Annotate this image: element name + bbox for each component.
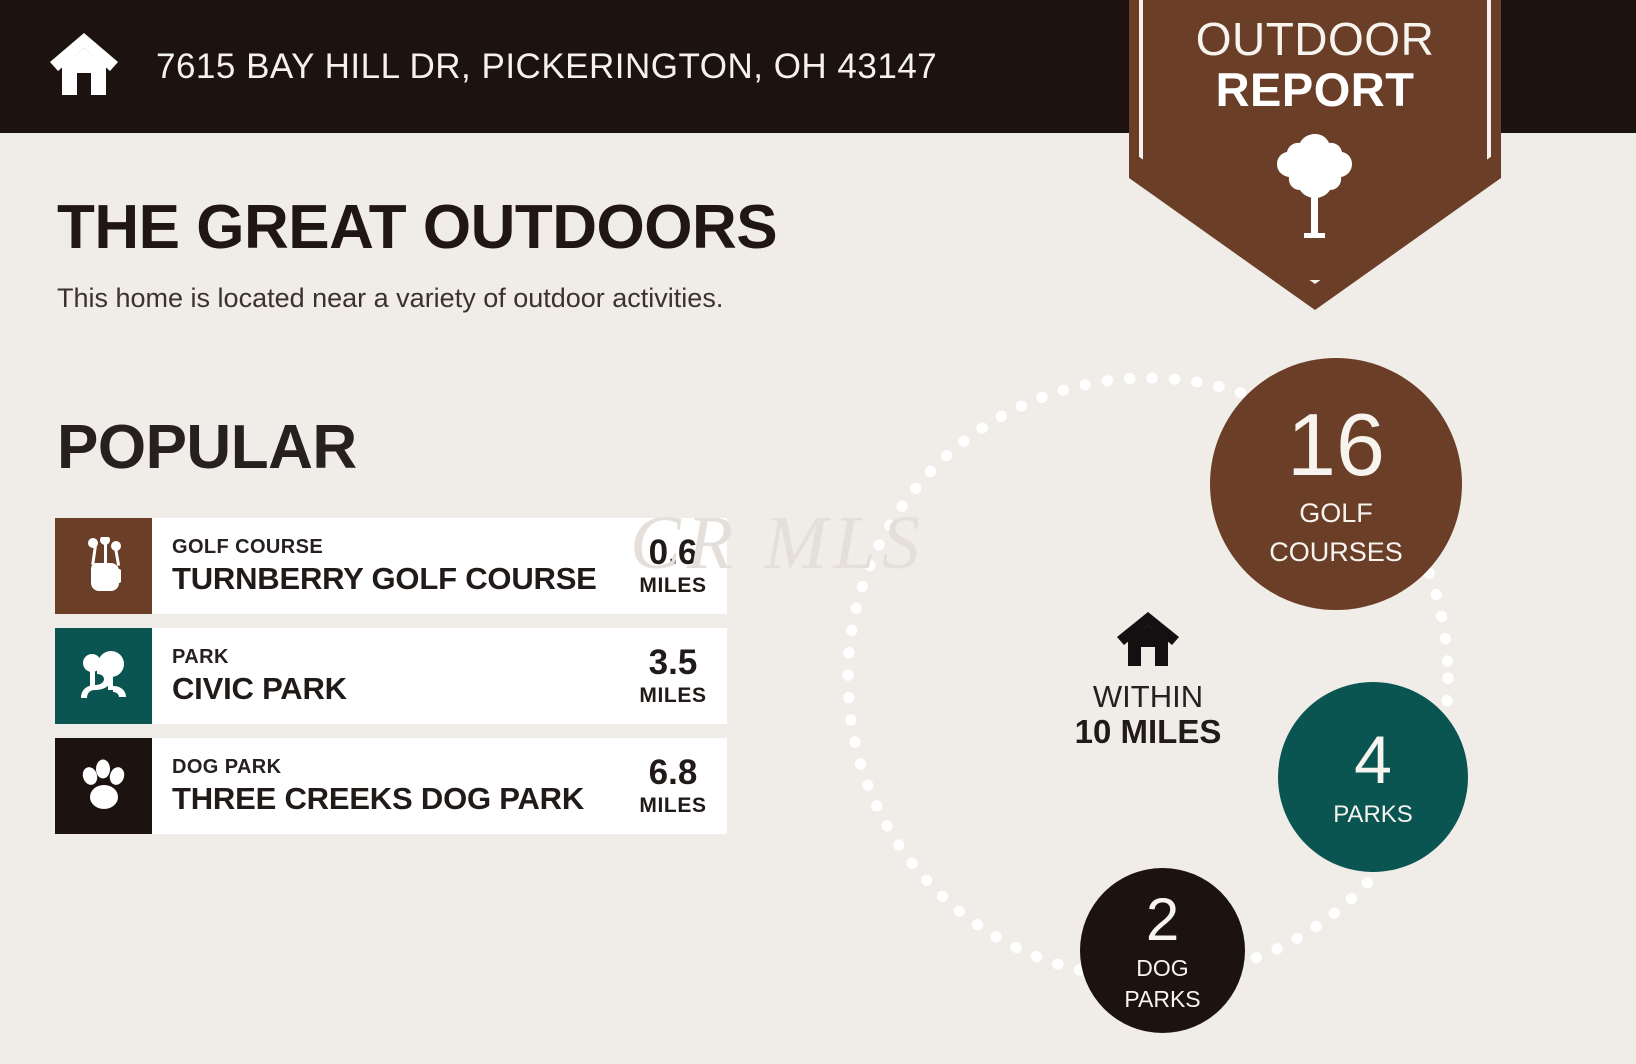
list-item[interactable]: GOLF COURSE TURNBERRY GOLF COURSE 0.6 MI… <box>55 518 727 614</box>
poi-text: PARK CIVIC PARK <box>172 646 347 707</box>
poi-distance: 0.6 MILES <box>633 535 721 598</box>
poi-distance-unit: MILES <box>639 574 706 598</box>
center-label-line1: WITHIN <box>1093 681 1203 714</box>
section-title-popular: POPULAR <box>57 412 357 483</box>
outdoor-report-badge: OUTDOOR REPORT <box>1129 0 1501 310</box>
tree-icon <box>1276 130 1354 245</box>
center-home-group: WITHIN 10 MILES <box>1068 610 1228 750</box>
badge-title-line2: REPORT <box>1129 62 1501 117</box>
poi-category: GOLF COURSE <box>172 536 597 559</box>
stat-label-line1: GOLF <box>1299 499 1373 528</box>
stat-label-line2: PARKS <box>1124 987 1200 1012</box>
park-tree-icon <box>78 648 130 705</box>
poi-distance-value: 0.6 <box>649 535 698 570</box>
page-title: THE GREAT OUTDOORS <box>57 192 777 263</box>
popular-list: GOLF COURSE TURNBERRY GOLF COURSE 0.6 MI… <box>55 518 727 848</box>
paw-print-icon <box>79 758 129 815</box>
poi-distance-unit: MILES <box>639 794 706 818</box>
poi-text: DOG PARK THREE CREEKS DOG PARK <box>172 756 584 817</box>
stat-label-line1: DOG <box>1136 956 1188 981</box>
stat-circle-parks[interactable]: 4 PARKS <box>1278 682 1468 872</box>
stat-circle-dog-parks[interactable]: 2 DOG PARKS <box>1080 868 1245 1033</box>
poi-name: THREE CREEKS DOG PARK <box>172 781 584 817</box>
stat-label-line2: COURSES <box>1269 538 1403 567</box>
poi-text: GOLF COURSE TURNBERRY GOLF COURSE <box>172 536 597 597</box>
stat-circle-golf-courses[interactable]: 16 GOLF COURSES <box>1210 358 1462 610</box>
home-icon <box>48 31 120 102</box>
proximity-diagram: WITHIN 10 MILES 16 GOLF COURSES 4 PARKS … <box>830 330 1636 1064</box>
golf-bag-icon <box>81 537 127 596</box>
home-icon <box>1115 610 1181 673</box>
poi-distance-value: 3.5 <box>649 645 698 680</box>
poi-body: GOLF COURSE TURNBERRY GOLF COURSE 0.6 MI… <box>152 518 727 614</box>
center-label-line2: 10 MILES <box>1075 714 1222 750</box>
poi-icon-tile <box>55 628 152 724</box>
poi-body: PARK CIVIC PARK 3.5 MILES <box>152 628 727 724</box>
stat-label-line1: PARKS <box>1333 802 1413 828</box>
poi-name: TURNBERRY GOLF COURSE <box>172 561 597 597</box>
list-item[interactable]: PARK CIVIC PARK 3.5 MILES <box>55 628 727 724</box>
stat-count: 16 <box>1287 401 1385 489</box>
poi-icon-tile <box>55 518 152 614</box>
stat-count: 2 <box>1146 890 1179 950</box>
poi-category: DOG PARK <box>172 756 584 779</box>
page-subtitle: This home is located near a variety of o… <box>57 283 723 314</box>
poi-distance-value: 6.8 <box>649 755 698 790</box>
poi-body: DOG PARK THREE CREEKS DOG PARK 6.8 MILES <box>152 738 727 834</box>
poi-category: PARK <box>172 646 347 669</box>
stat-count: 4 <box>1354 726 1392 794</box>
header-address: 7615 BAY HILL DR, PICKERINGTON, OH 43147 <box>156 47 937 87</box>
badge-title-line1: OUTDOOR <box>1129 12 1501 66</box>
poi-distance-unit: MILES <box>639 684 706 708</box>
poi-name: CIVIC PARK <box>172 671 347 707</box>
list-item[interactable]: DOG PARK THREE CREEKS DOG PARK 6.8 MILES <box>55 738 727 834</box>
poi-icon-tile <box>55 738 152 834</box>
poi-distance: 6.8 MILES <box>633 755 721 818</box>
poi-distance: 3.5 MILES <box>633 645 721 708</box>
